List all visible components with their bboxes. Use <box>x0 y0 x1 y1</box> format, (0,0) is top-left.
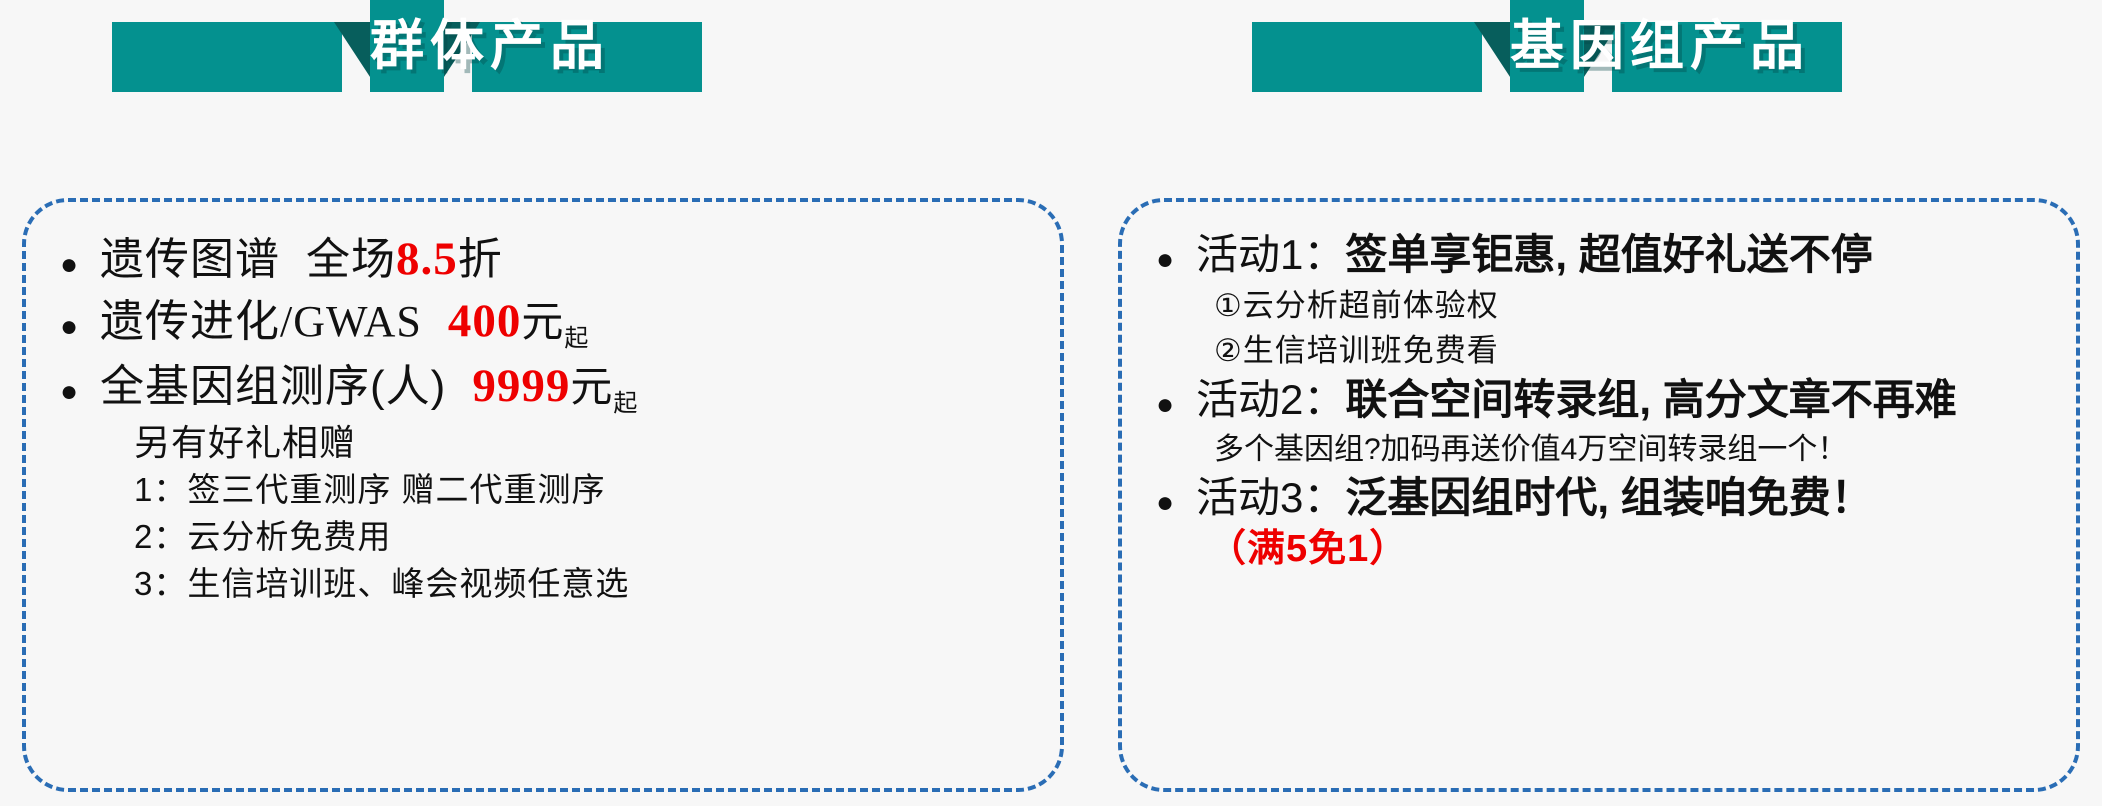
bullet-icon: ● <box>1156 390 1196 420</box>
bullet-icon: ● <box>1156 245 1196 275</box>
activity-headline: 签单享钜惠, 超值好礼送不停 <box>1345 231 1872 278</box>
activity-label: 活动1： <box>1196 231 1345 278</box>
banner-right-title: 基因组产品 <box>1510 0 1584 92</box>
list-item: ● 遗传图谱全场8.5折 <box>60 228 1026 290</box>
product-name: 遗传进化/GWAS <box>100 297 422 346</box>
gift-note: 另有好礼相赠 <box>134 419 1026 467</box>
list-item: ● 活动3：泛基因组时代, 组装咱免费！ <box>1156 471 2042 526</box>
promo-footer: （满5免1） <box>1208 525 2042 574</box>
activity-sub-item: ②生信培训班免费看 <box>1214 328 2042 373</box>
bullet-icon: ● <box>60 250 100 280</box>
price-unit: 元 <box>570 363 613 410</box>
gift-item: 3：生信培训班、峰会视频任意选 <box>134 561 1026 608</box>
gift-item: 2：云分析免费用 <box>134 514 1026 561</box>
genome-products-card: ● 活动1：签单享钜惠, 超值好礼送不停 ①云分析超前体验权 ②生信培训班免费看… <box>1118 198 2080 792</box>
activity-label: 活动2： <box>1196 376 1345 423</box>
list-item: ● 活动1：签单享钜惠, 超值好礼送不停 <box>1156 228 2042 283</box>
activity-sub-item: ①云分析超前体验权 <box>1214 283 2042 328</box>
price-value: 8.5 <box>396 233 458 285</box>
price-value: 400 <box>448 295 522 347</box>
bullet-icon: ● <box>60 312 100 342</box>
activity-line: 活动3：泛基因组时代, 组装咱免费！ <box>1196 471 2042 526</box>
bullet-icon: ● <box>1156 488 1196 518</box>
price-from-suffix: 起 <box>564 325 589 352</box>
product-name: 遗传图谱 <box>100 235 280 284</box>
activity-line: 活动2：联合空间转录组, 高分文章不再难 <box>1196 373 2042 428</box>
list-item: ● 全基因组测序(人)9999元起 <box>60 355 1026 419</box>
activity-headline: 联合空间转录组, 高分文章不再难 <box>1345 376 1956 423</box>
product-line: 遗传进化/GWAS400元起 <box>100 290 1026 354</box>
population-products-content: ● 遗传图谱全场8.5折 ● 遗传进化/GWAS400元起 ● 全基因组测序(人… <box>26 202 1060 618</box>
genome-products-content: ● 活动1：签单享钜惠, 超值好礼送不停 ①云分析超前体验权 ②生信培训班免费看… <box>1122 202 2076 585</box>
list-item: ● 遗传进化/GWAS400元起 <box>60 290 1026 354</box>
product-line: 遗传图谱全场8.5折 <box>100 228 1026 290</box>
ribbon-tail-left-icon <box>112 22 342 92</box>
product-line: 全基因组测序(人)9999元起 <box>100 355 1026 419</box>
bullet-icon: ● <box>60 377 100 407</box>
activity-headline: 泛基因组时代, 组装咱免费！ <box>1345 474 1872 521</box>
offer-prefix: 全场 <box>306 235 396 284</box>
gift-item: 1：签三代重测序 赠二代重测序 <box>134 467 1026 514</box>
banner-left: 群体产品 <box>112 0 702 100</box>
product-name: 全基因组测序(人) <box>100 362 446 411</box>
banner-left-title: 群体产品 <box>370 0 444 92</box>
activity-line: 活动1：签单享钜惠, 超值好礼送不停 <box>1196 228 2042 283</box>
price-from-suffix: 起 <box>613 389 638 416</box>
activity-label: 活动3： <box>1196 474 1345 521</box>
price-value: 9999 <box>472 360 570 412</box>
list-item: ● 活动2：联合空间转录组, 高分文章不再难 <box>1156 373 2042 428</box>
ribbon-tail-left-icon <box>1252 22 1482 92</box>
price-unit: 元 <box>521 298 564 345</box>
banner-right: 基因组产品 <box>1252 0 1842 100</box>
population-products-card: ● 遗传图谱全场8.5折 ● 遗传进化/GWAS400元起 ● 全基因组测序(人… <box>22 198 1064 792</box>
price-suffix: 折 <box>458 235 503 284</box>
activity-note: 多个基因组?加码再送价值4万空间转录组一个！ <box>1214 428 2042 471</box>
